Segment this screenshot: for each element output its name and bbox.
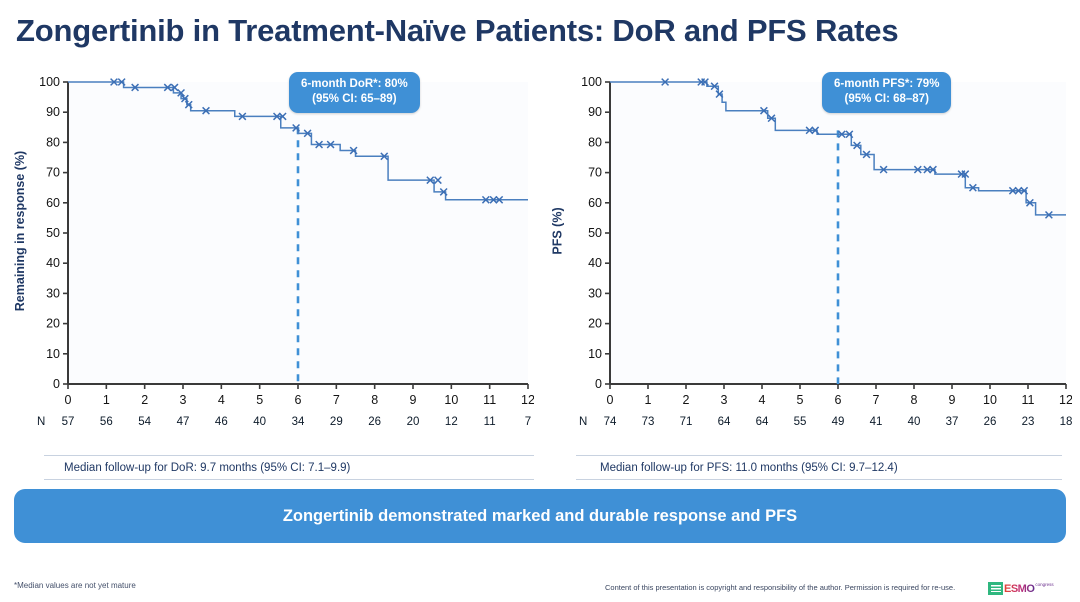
x-tick-label: 6 (295, 393, 302, 407)
callout-pfs-line1: 6-month PFS*: 79% (834, 77, 939, 92)
x-tick-label: 5 (256, 393, 263, 407)
x-tick-label: 4 (759, 393, 766, 407)
y-tick-label: 90 (588, 105, 602, 119)
x-tick-label: 11 (483, 393, 496, 407)
risk-table-cell: 34 (283, 416, 313, 428)
risk-table-cell: 40 (245, 416, 275, 428)
summary-banner-text: Zongertinib demonstrated marked and dura… (283, 507, 797, 526)
risk-table-cell: 71 (671, 416, 701, 428)
y-tick-label: 10 (588, 347, 602, 361)
risk-table-cell: 20 (398, 416, 428, 428)
x-tick-label: 1 (645, 393, 652, 407)
x-tick-label: 12 (1059, 393, 1072, 407)
risk-table-label: N (37, 416, 45, 428)
risk-table-cell: 37 (937, 416, 967, 428)
km-plot-pfs: 01020304050607080901000123456789101112 (576, 74, 1072, 426)
y-tick-label: 80 (46, 135, 60, 149)
y-tick-label: 0 (595, 377, 602, 391)
y-tick-label: 80 (588, 135, 602, 149)
x-tick-label: 10 (983, 393, 997, 407)
median-followup-dor: Median follow-up for DoR: 9.7 months (95… (64, 462, 350, 474)
panel-dor: Remaining in response (%) 01020304050607… (8, 66, 542, 466)
y-tick-label: 70 (588, 166, 602, 180)
x-tick-label: 0 (65, 393, 72, 407)
callout-pfs: 6-month PFS*: 79% (95% CI: 68–87) (822, 72, 951, 113)
esmo-logo: ESMO congress (988, 581, 1054, 596)
x-tick-label: 1 (103, 393, 110, 407)
y-tick-label: 50 (588, 226, 602, 240)
y-tick-label: 30 (46, 286, 60, 300)
risk-table-cell: 74 (595, 416, 625, 428)
esmo-mark-icon (988, 582, 1003, 595)
x-tick-label: 9 (949, 393, 956, 407)
risk-table-cell: 26 (360, 416, 390, 428)
x-tick-label: 12 (521, 393, 534, 407)
risk-table-cell: 26 (975, 416, 1005, 428)
divider-pfs-bottom (576, 479, 1062, 480)
slide-root: Zongertinib in Treatment-Naïve Patients:… (0, 0, 1080, 602)
y-tick-label: 50 (46, 226, 60, 240)
divider-dor-top (44, 455, 534, 456)
risk-table-cell: 54 (130, 416, 160, 428)
callout-dor-line2: (95% CI: 65–89) (301, 92, 408, 107)
risk-table-cell: 11 (475, 416, 505, 428)
x-tick-label: 8 (371, 393, 378, 407)
x-tick-label: 2 (683, 393, 690, 407)
risk-table-cell: 49 (823, 416, 853, 428)
x-tick-label: 11 (1022, 393, 1035, 407)
risk-table-cell: 56 (91, 416, 121, 428)
y-tick-label: 20 (588, 317, 602, 331)
y-tick-label: 40 (46, 256, 60, 270)
summary-banner: Zongertinib demonstrated marked and dura… (14, 489, 1066, 543)
x-tick-label: 7 (333, 393, 340, 407)
x-tick-label: 9 (410, 393, 417, 407)
risk-table-cell: 46 (206, 416, 236, 428)
y-tick-label: 30 (588, 286, 602, 300)
x-tick-label: 8 (911, 393, 918, 407)
copyright-notice: Content of this presentation is copyrigh… (605, 583, 955, 592)
y-tick-label: 70 (46, 166, 60, 180)
divider-dor-bottom (44, 479, 534, 480)
risk-table-cell: 73 (633, 416, 663, 428)
y-tick-label: 90 (46, 105, 60, 119)
risk-table-cell: 57 (53, 416, 83, 428)
x-tick-label: 5 (797, 393, 804, 407)
risk-table-cell: 40 (899, 416, 929, 428)
km-plot-dor: 01020304050607080901000123456789101112 (34, 74, 534, 426)
divider-pfs-top (576, 455, 1062, 456)
x-tick-label: 4 (218, 393, 225, 407)
risk-table-cell: 47 (168, 416, 198, 428)
x-tick-label: 3 (721, 393, 728, 407)
callout-pfs-line2: (95% CI: 68–87) (834, 92, 939, 107)
risk-table-cell: 29 (321, 416, 351, 428)
page-title: Zongertinib in Treatment-Naïve Patients:… (16, 14, 1066, 48)
y-tick-label: 60 (588, 196, 602, 210)
y-tick-label: 20 (46, 317, 60, 331)
x-tick-label: 0 (607, 393, 614, 407)
y-tick-label: 100 (581, 75, 602, 89)
risk-table-label: N (579, 416, 587, 428)
x-tick-label: 2 (141, 393, 148, 407)
panel-pfs: PFS (%) 01020304050607080901000123456789… (546, 66, 1074, 466)
y-axis-label-dor: Remaining in response (%) (10, 66, 30, 396)
median-followup-pfs: Median follow-up for PFS: 11.0 months (9… (600, 462, 898, 474)
y-tick-label: 0 (53, 377, 60, 391)
callout-dor-line1: 6-month DoR*: 80% (301, 77, 408, 92)
risk-table-cell: 55 (785, 416, 815, 428)
y-tick-label: 60 (46, 196, 60, 210)
risk-table-cell: 12 (436, 416, 466, 428)
esmo-logo-word: ESMO (1003, 583, 1035, 595)
footnote: *Median values are not yet mature (14, 581, 136, 590)
esmo-logo-congress: congress (1035, 582, 1053, 587)
risk-table-cell: 64 (709, 416, 739, 428)
km-chart-pfs: 01020304050607080901000123456789101112 (576, 74, 1072, 426)
risk-table-cell: 23 (1013, 416, 1043, 428)
callout-dor: 6-month DoR*: 80% (95% CI: 65–89) (289, 72, 420, 113)
x-tick-label: 3 (180, 393, 187, 407)
risk-table-cell: 64 (747, 416, 777, 428)
km-chart-dor: 01020304050607080901000123456789101112 (34, 74, 534, 426)
y-tick-label: 100 (39, 75, 60, 89)
y-tick-label: 10 (46, 347, 60, 361)
x-tick-label: 6 (835, 393, 842, 407)
y-axis-label-pfs: PFS (%) (548, 66, 568, 396)
y-tick-label: 40 (588, 256, 602, 270)
x-tick-label: 7 (873, 393, 880, 407)
risk-table-cell: 41 (861, 416, 891, 428)
x-tick-label: 10 (444, 393, 458, 407)
risk-table-cell: 7 (513, 416, 543, 428)
risk-table-cell: 18 (1051, 416, 1080, 428)
